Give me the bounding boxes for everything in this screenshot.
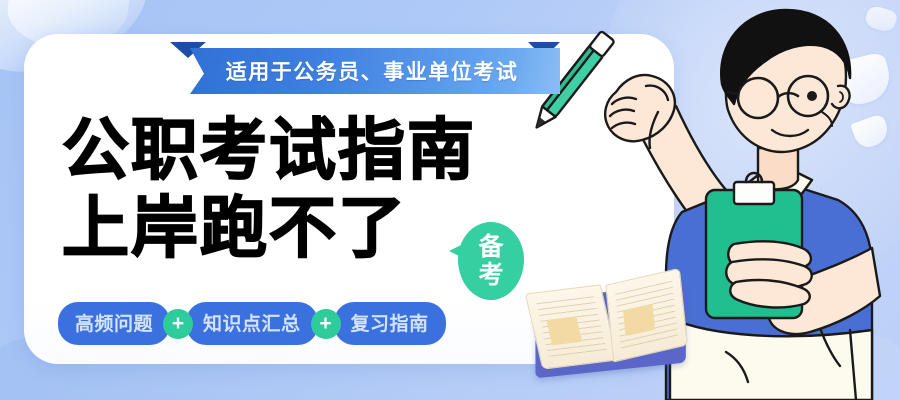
tag-pill-1[interactable]: 高频问题 [58, 302, 170, 345]
ribbon-label: 适用于公务员、事业单位考试 [170, 48, 560, 94]
tag-pill-2[interactable]: 知识点汇总 [186, 302, 318, 345]
tag-pill-3[interactable]: 复习指南 [334, 302, 446, 345]
plus-icon: + [311, 309, 341, 339]
ribbon-banner: 适用于公务员、事业单位考试 [170, 42, 560, 94]
badge-char-2: 考 [478, 261, 503, 289]
badge-char-1: 备 [478, 233, 503, 261]
badge-label: 备 考 [458, 222, 524, 300]
plus-icon: + [163, 309, 193, 339]
headline-line-2: 上岸跑不了 [62, 190, 407, 268]
tag-list: 高频问题 + 知识点汇总 + 复习指南 [58, 302, 446, 345]
status-badge: 备 考 [458, 222, 524, 300]
book-illustration-block [546, 316, 582, 345]
headline-line-1: 公职考试指南 [62, 112, 582, 190]
promo-banner: 适用于公务员、事业单位考试 公职考试指南 上岸跑不了 备 考 高频问题 + 知识… [0, 0, 900, 400]
